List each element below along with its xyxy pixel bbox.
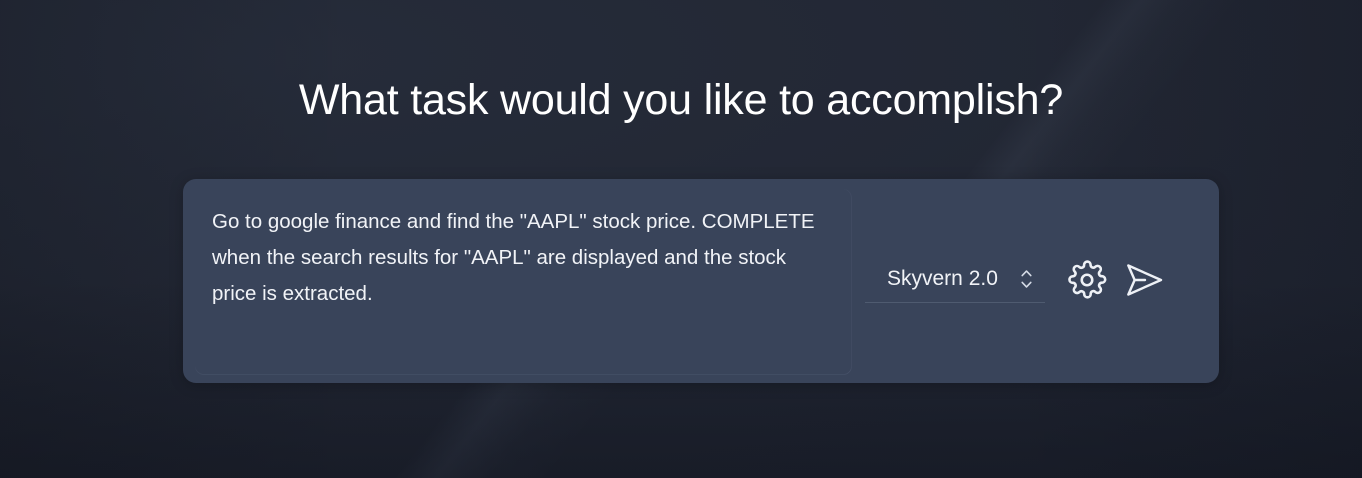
chevron-up-down-icon bbox=[1019, 265, 1035, 293]
send-icon bbox=[1122, 260, 1166, 300]
page-title: What task would you like to accomplish? bbox=[0, 73, 1362, 127]
send-button[interactable] bbox=[1123, 259, 1165, 301]
model-select-value: Skyvern 2.0 bbox=[887, 267, 998, 291]
prompt-input-wrapper bbox=[195, 189, 852, 375]
settings-button[interactable] bbox=[1066, 259, 1108, 301]
model-select[interactable]: Skyvern 2.0 bbox=[865, 256, 1045, 303]
gear-icon bbox=[1067, 260, 1107, 300]
task-prompt-input[interactable] bbox=[195, 189, 852, 375]
task-composer-panel: Skyvern 2.0 bbox=[183, 179, 1219, 383]
task-prompt-page: What task would you like to accomplish? … bbox=[0, 0, 1362, 478]
composer-controls: Skyvern 2.0 bbox=[865, 256, 1165, 303]
